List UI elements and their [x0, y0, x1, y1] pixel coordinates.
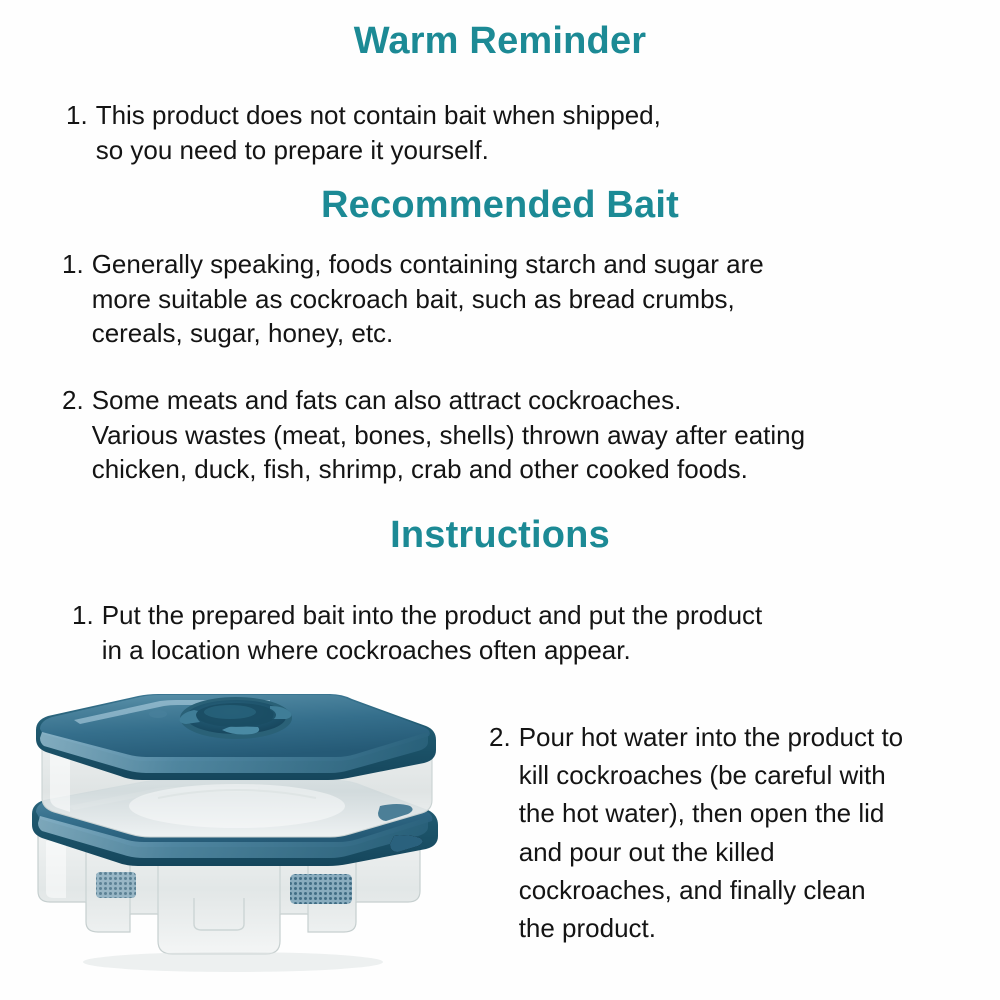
list-item-line: cereals, sugar, honey, etc. [92, 316, 962, 351]
list-item-marker: 1. [62, 247, 92, 282]
list-item-line: cockroaches, and finally clean [519, 871, 989, 909]
upper-lid [36, 694, 436, 780]
list-item-marker: 2. [489, 718, 519, 756]
section-heading-instructions: Instructions [0, 516, 1000, 556]
list-item-line: kill cockroaches (be careful with [519, 756, 989, 794]
list-item-text: Some meats and fats can also attract coc… [92, 383, 982, 487]
list-item-line: more suitable as cockroach bait, such as… [92, 282, 962, 317]
list-item-marker: 2. [62, 383, 92, 418]
list-item-text: This product does not contain bait when … [96, 98, 946, 167]
list-item-text: Put the prepared bait into the product a… [102, 598, 962, 667]
list-item-line: the hot water), then open the lid [519, 794, 989, 832]
list-item-line: chicken, duck, fish, shrimp, crab and ot… [92, 452, 982, 487]
list-item-line: Put the prepared bait into the product a… [102, 598, 962, 633]
list-item: 2. Some meats and fats can also attract … [62, 383, 982, 487]
list-item-text: Generally speaking, foods containing sta… [92, 247, 962, 351]
list-item-line: Generally speaking, foods containing sta… [92, 247, 962, 282]
section-heading-warm-reminder: Warm Reminder [0, 22, 1000, 62]
list-item-line: in a location where cockroaches often ap… [102, 633, 962, 668]
list-item-line: so you need to prepare it yourself. [96, 133, 946, 168]
list-item-text: Pour hot water into the product to kill … [519, 718, 989, 947]
section-heading-recommended-bait: Recommended Bait [0, 186, 1000, 226]
list-item: 1. Generally speaking, foods containing … [62, 247, 962, 351]
list-item: 1. Put the prepared bait into the produc… [72, 598, 962, 667]
list-item-line: the product. [519, 909, 989, 947]
product-photo-stacked-traps [8, 686, 478, 986]
list-item: 1. This product does not contain bait wh… [66, 98, 946, 167]
list-item-line: and pour out the killed [519, 833, 989, 871]
list-item-line: Various wastes (meat, bones, shells) thr… [92, 418, 982, 453]
list-item-line: This product does not contain bait when … [96, 98, 946, 133]
lid-twist-lock-opening [180, 697, 292, 739]
lid-dimple [149, 710, 167, 718]
mesh-entry-panel-left [96, 872, 136, 898]
list-item-line: Pour hot water into the product to [519, 718, 989, 756]
mesh-entry-panel-right [290, 874, 352, 904]
instruction-sheet-page: Warm Reminder 1. This product does not c… [0, 0, 1000, 1000]
list-item-marker: 1. [72, 598, 102, 633]
list-item-line: Some meats and fats can also attract coc… [92, 383, 982, 418]
list-item: 2. Pour hot water into the product to ki… [489, 718, 989, 947]
list-item-marker: 1. [66, 98, 96, 133]
